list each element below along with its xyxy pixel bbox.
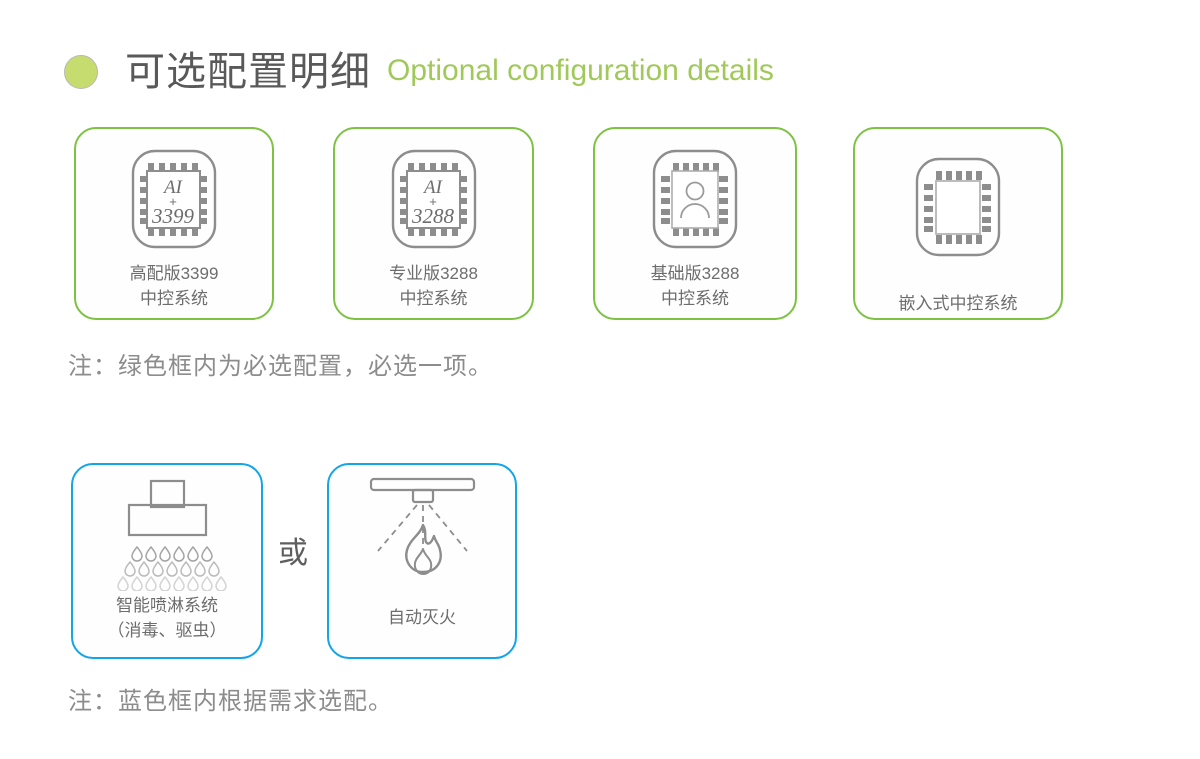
card-jichu-3288[interactable]: 基础版3288 中控系统 <box>593 127 797 320</box>
bullet-dot-icon <box>64 55 98 89</box>
card-gaopei-3399[interactable]: AI + 3399 高配版3399 中控系统 <box>74 127 274 320</box>
chip-ai-3288-icon: AI + 3288 <box>378 143 490 255</box>
card-label: 自动灭火 <box>388 605 456 630</box>
chip-person-icon <box>639 143 751 255</box>
card-auto-fire-suppression[interactable]: 自动灭火 <box>327 463 517 659</box>
page-header: 可选配置明细 Optional configuration details <box>64 48 774 96</box>
card-smart-sprinkler[interactable]: 智能喷淋系统 （消毒、驱虫） <box>71 463 263 659</box>
page-subtitle: Optional configuration details <box>387 48 774 96</box>
droplet-row-2 <box>125 562 219 576</box>
or-separator: 或 <box>278 534 308 574</box>
card-label: 智能喷淋系统 （消毒、驱虫） <box>108 593 227 643</box>
card-label: 嵌入式中控系统 <box>899 291 1018 316</box>
card-embedded-system[interactable]: 嵌入式中控系统 <box>853 127 1063 320</box>
card-zhuanye-3288[interactable]: AI + 3288 专业版3288 中控系统 <box>333 127 534 320</box>
note-required-config: 注：绿色框内为必选配置，必选一项。 <box>68 350 493 384</box>
droplet-row-1 <box>132 547 212 561</box>
chip-blank-icon <box>902 151 1014 263</box>
droplet-row-3 <box>118 577 226 591</box>
chip-label-bottom: 3399 <box>151 204 195 228</box>
card-label: 专业版3288 中控系统 <box>389 261 478 311</box>
card-label: 基础版3288 中控系统 <box>651 261 740 311</box>
page-title: 可选配置明细 <box>125 49 371 95</box>
chip-ai-3399-icon: AI + 3399 <box>118 143 230 255</box>
fire-suppression-icon <box>347 473 497 601</box>
note-optional-config: 注：蓝色框内根据需求选配。 <box>68 685 393 719</box>
sprinkler-icon <box>99 475 235 591</box>
chip-label-bottom: 3288 <box>411 204 455 228</box>
card-label: 高配版3399 中控系统 <box>130 261 219 311</box>
